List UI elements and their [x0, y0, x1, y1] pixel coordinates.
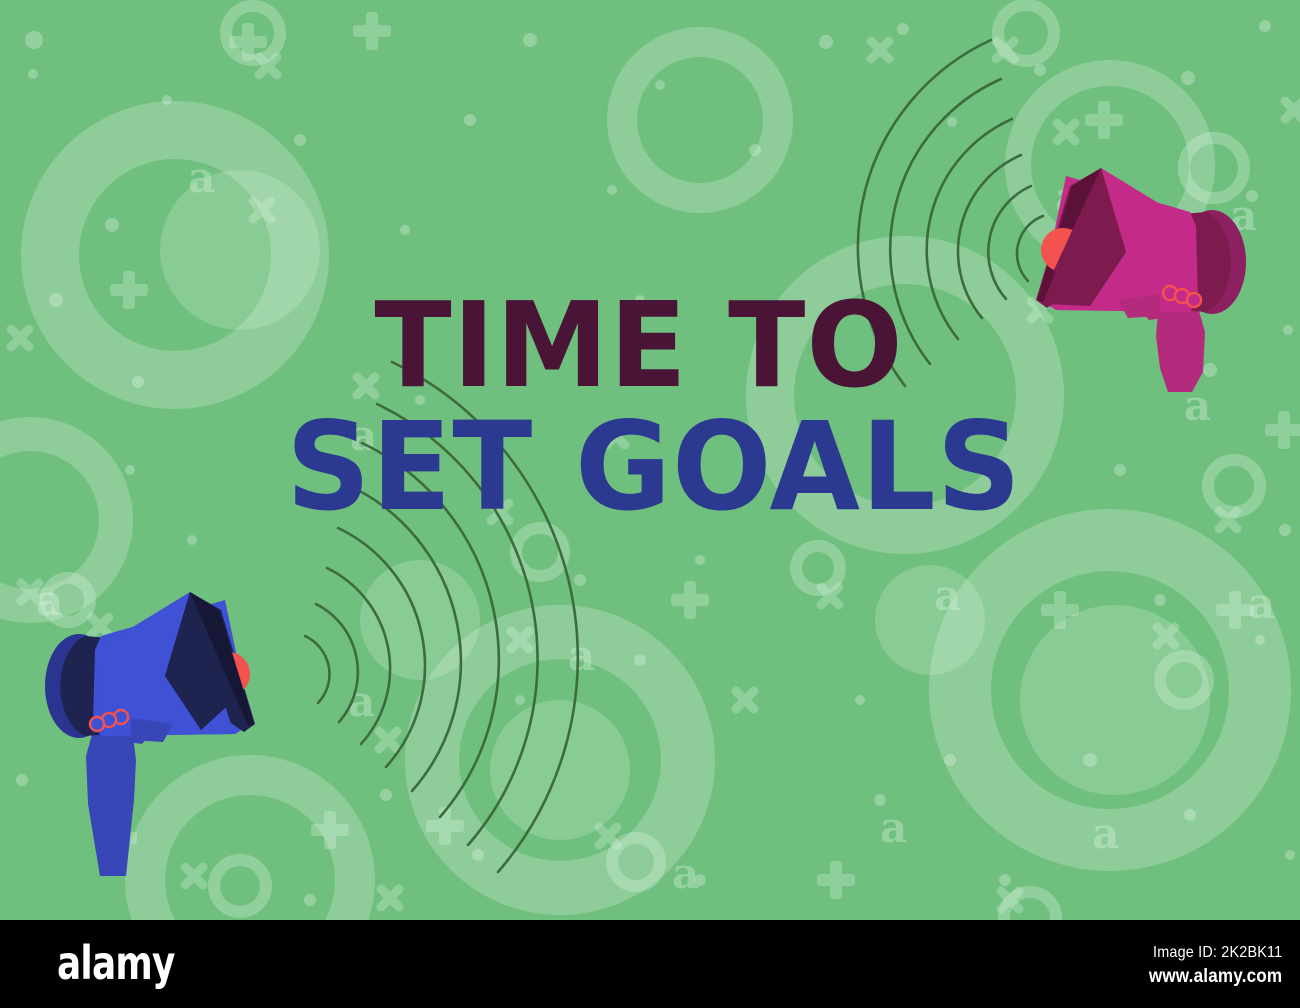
megaphone-pink: [1036, 168, 1246, 392]
artwork-canvas: a a a a a a a a a a a a a: [0, 0, 1300, 920]
megaphone-blue: [45, 592, 255, 876]
megaphone-illustration-layer: [0, 0, 1300, 920]
alamy-url-label: www.alamy.com: [1149, 964, 1282, 990]
footer-metadata: Image ID: 2K2BK11 www.alamy.com: [1134, 942, 1282, 990]
alamy-footer-bar: alamy Image ID: 2K2BK11 www.alamy.com: [0, 920, 1300, 1008]
soundwave-arcs-blue: [305, 362, 578, 872]
image-id-label: Image ID: 2K2BK11: [1149, 942, 1282, 964]
soundwave-arcs-pink: [858, 40, 1043, 386]
screenshot-root: a a a a a a a a a a a a a: [0, 0, 1300, 1008]
alamy-logo: alamy: [57, 938, 175, 988]
